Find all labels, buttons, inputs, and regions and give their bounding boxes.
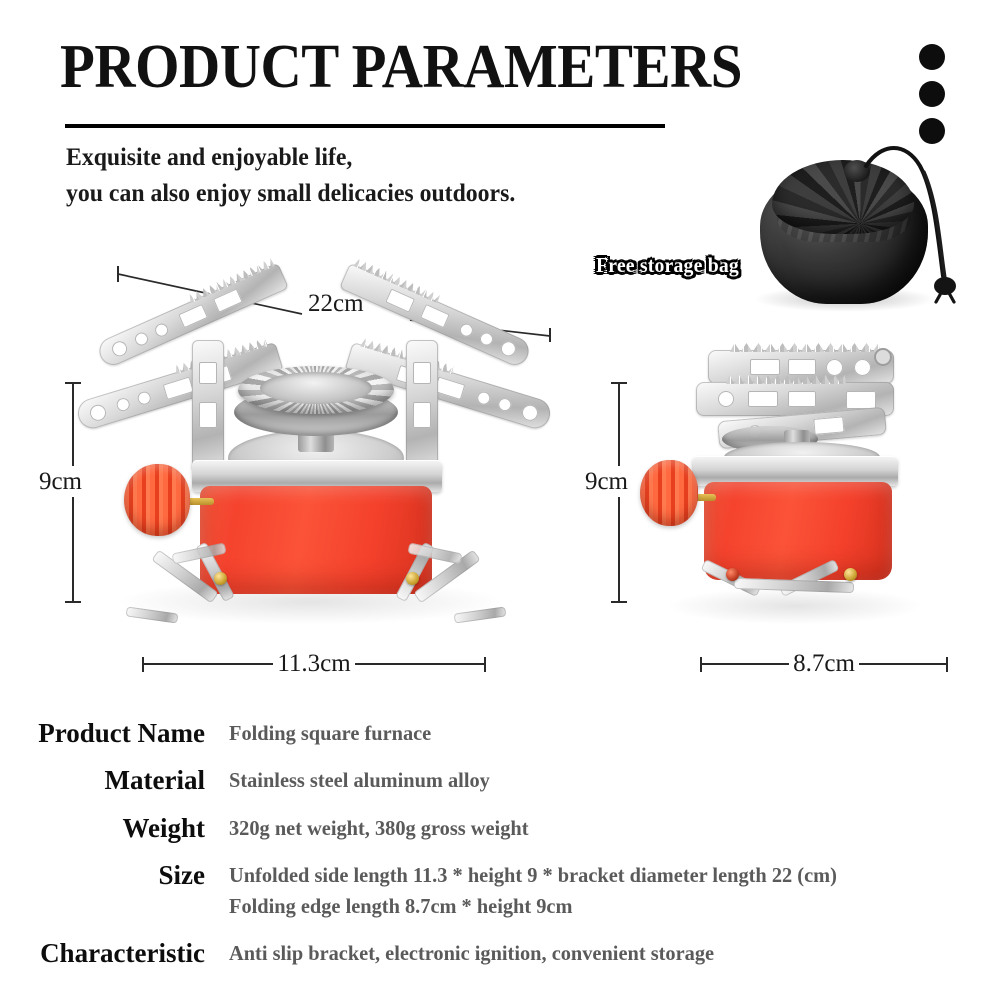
arm-slot: [385, 288, 415, 312]
burner-cap-center: [260, 372, 372, 404]
spec-value-size: Unfolded side length 11.3 * height 9 * b…: [229, 860, 837, 921]
spec-value-material: Stainless steel aluminum alloy: [229, 765, 490, 795]
spec-label-product-name: Product Name: [0, 718, 205, 748]
leg-rivet: [214, 572, 227, 585]
subtitle-line-2: you can also enjoy small delicacies outd…: [66, 176, 515, 212]
bracket-hole: [718, 391, 734, 407]
spec-table: Product Name Folding square furnace Mate…: [0, 718, 1002, 986]
spec-value-line: Anti slip bracket, electronic ignition, …: [229, 938, 714, 968]
storage-bag-label: Free storage bag: [596, 253, 739, 278]
unfolded-stove-photo: [80, 280, 550, 640]
arm-slot: [434, 377, 465, 400]
dimension-bar: [859, 663, 946, 665]
arm-hole: [497, 396, 513, 412]
riser-slot: [413, 402, 431, 428]
dimension-width-right: 8.7cm: [700, 650, 948, 678]
dimension-cap: [484, 657, 486, 672]
dimension-bar: [144, 663, 273, 665]
dimension-label-8-7cm: 8.7cm: [789, 650, 859, 678]
arm-hole: [478, 330, 495, 347]
arm-hole: [133, 330, 150, 347]
control-knob: [124, 464, 190, 536]
table-row: Weight 320g net weight, 380g gross weigh…: [0, 813, 1002, 843]
bracket-serration: [730, 343, 880, 352]
spec-label-weight: Weight: [0, 813, 205, 843]
riser-slot: [413, 362, 431, 384]
arm-slot: [420, 304, 450, 328]
stove-body: [704, 482, 892, 580]
dimension-segment: [72, 497, 74, 601]
spec-value-line: 320g net weight, 380g gross weight: [229, 813, 529, 843]
spec-value-characteristic: Anti slip bracket, electronic ignition, …: [229, 938, 714, 968]
bracket-slot: [788, 359, 816, 375]
spec-value-line: Unfolded side length 11.3 * height 9 * b…: [229, 860, 837, 890]
pot-support-riser-left: [192, 340, 224, 472]
dimension-height-left: 9cm: [20, 382, 80, 627]
table-row: Material Stainless steel aluminum alloy: [0, 765, 1002, 795]
bracket-hole: [826, 359, 843, 376]
page-title: PRODUCT PARAMETERS: [60, 36, 742, 98]
spec-value-line: Folding edge length 8.7cm * height 9cm: [229, 891, 837, 921]
dimension-segment: [618, 497, 620, 601]
dimension-width-left: 11.3cm: [142, 650, 486, 678]
dimension-cap: [65, 601, 81, 603]
arm-hole: [110, 339, 130, 359]
table-row: Product Name Folding square furnace: [0, 718, 1002, 748]
arm-hole: [153, 322, 170, 339]
arm-hole: [499, 339, 519, 359]
storage-bag-photo: [748, 126, 963, 321]
table-row: Characteristic Anti slip bracket, electr…: [0, 938, 1002, 968]
dot-icon: [919, 44, 945, 70]
product-parameters-page: PRODUCT PARAMETERS Exquisite and enjoyab…: [0, 0, 1002, 1002]
riser-slot: [199, 362, 217, 384]
control-knob: [640, 460, 698, 526]
spec-value-line: Folding square furnace: [229, 718, 431, 748]
dot-icon: [919, 81, 945, 107]
riser-slot: [199, 402, 217, 428]
ground-shadow: [670, 588, 920, 624]
dimension-bar: [702, 663, 789, 665]
leg-rivet: [844, 568, 857, 581]
bracket-slot: [748, 391, 778, 407]
subtitle-line-1: Exquisite and enjoyable life,: [66, 140, 515, 176]
page-subtitle: Exquisite and enjoyable life, you can al…: [66, 140, 515, 211]
spec-value-product-name: Folding square furnace: [229, 718, 431, 748]
bracket-slot: [750, 359, 780, 375]
bracket-slot: [813, 416, 844, 435]
bracket-slot: [788, 391, 816, 407]
arm-hole: [115, 396, 131, 412]
spec-value-line: Stainless steel aluminum alloy: [229, 765, 490, 795]
arm-hole: [458, 322, 475, 339]
spec-label-characteristic: Characteristic: [0, 938, 205, 968]
spec-label-material: Material: [0, 765, 205, 795]
bracket-slot: [846, 391, 876, 409]
bag-drawcord: [748, 126, 963, 321]
leg-rivet: [726, 568, 739, 581]
dimension-label-9cm-right: 9cm: [585, 466, 628, 497]
table-row: Size Unfolded side length 11.3 * height …: [0, 860, 1002, 921]
folded-stove-photo: [630, 330, 950, 630]
pot-support-riser-right: [406, 340, 438, 472]
bracket-hole: [854, 359, 871, 376]
arm-hole: [136, 390, 152, 406]
dimension-bar: [355, 663, 484, 665]
dimension-cap: [611, 601, 627, 603]
dimension-label-9cm-left: 9cm: [39, 466, 82, 497]
bracket-hinge-pin: [874, 348, 892, 366]
arm-hole: [476, 390, 492, 406]
stove-body: [200, 486, 432, 594]
dimension-segment: [72, 384, 74, 466]
spec-label-size: Size: [0, 860, 205, 890]
dimension-segment: [618, 384, 620, 466]
folded-bracket-upper: [708, 350, 894, 384]
arm-hole: [520, 403, 540, 423]
title-divider: [65, 124, 665, 128]
arm-hole: [88, 403, 108, 423]
spec-value-weight: 320g net weight, 380g gross weight: [229, 813, 529, 843]
dimension-cap: [946, 657, 948, 672]
arm-slot: [163, 377, 194, 400]
dimension-label-11-3cm: 11.3cm: [273, 650, 354, 678]
dimension-height-right: 9cm: [566, 382, 626, 627]
arm-slot: [213, 288, 243, 312]
arm-slot: [178, 304, 208, 328]
leg-rivet: [406, 572, 419, 585]
